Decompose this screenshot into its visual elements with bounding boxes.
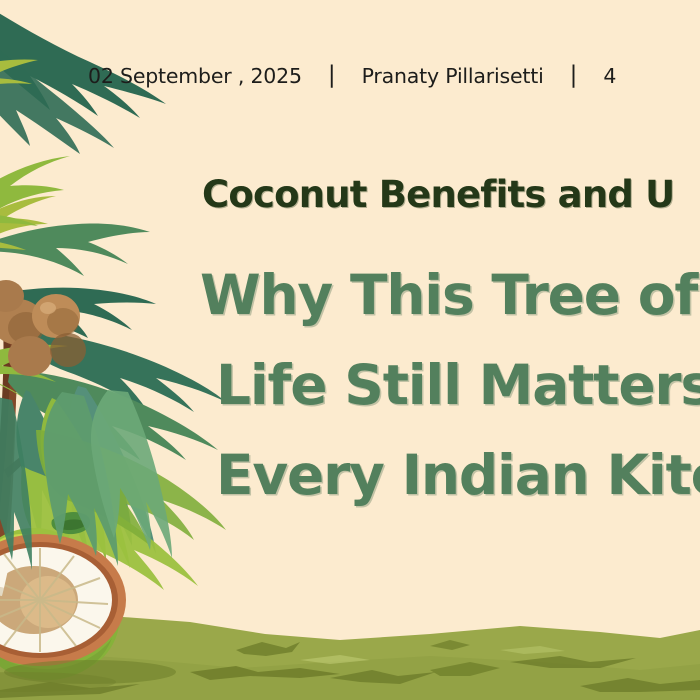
green-coconut-speck-1 bbox=[5, 556, 15, 564]
halved-coconut-chip bbox=[0, 568, 8, 588]
frond-light-upper bbox=[0, 156, 70, 226]
frond-mid-down-left bbox=[16, 390, 90, 564]
halved-coconut-flesh-tan bbox=[0, 566, 78, 634]
palm-fronds-light bbox=[0, 59, 226, 590]
halved-coconut-husk bbox=[0, 544, 120, 676]
whole-green-coconut-illustration bbox=[0, 512, 92, 660]
grass-tuft-6 bbox=[580, 678, 700, 692]
green-coconut-ground-shadow bbox=[0, 672, 116, 692]
frond-droop-2 bbox=[91, 390, 172, 558]
tree-coconut-2-shade bbox=[47, 308, 79, 336]
article-kicker: Coconut Benefits and U bbox=[202, 176, 674, 213]
tree-coconut-highlight bbox=[40, 302, 56, 314]
halved-coconut-illustration bbox=[0, 534, 176, 692]
green-coconut-dark-edge bbox=[0, 599, 30, 661]
meta-separator-1: | bbox=[302, 64, 362, 87]
tree-coconut-3 bbox=[8, 336, 52, 376]
read-time: 4 bbox=[603, 66, 616, 87]
halved-coconut-base-green bbox=[0, 638, 112, 680]
grass-tuft-3 bbox=[330, 670, 436, 684]
trunk-shade bbox=[0, 312, 17, 640]
grass-tuft-7 bbox=[430, 640, 470, 650]
frond-droop-3 bbox=[0, 396, 32, 570]
headline-line-2: Life Still Matters in bbox=[200, 340, 700, 430]
ground-hill-shade bbox=[0, 654, 700, 700]
frond-mid-right bbox=[8, 370, 218, 460]
frond-droop-1 bbox=[44, 392, 118, 566]
green-coconut-stem bbox=[51, 512, 90, 534]
trunk-stem-sliver bbox=[4, 444, 38, 478]
frond-light-down bbox=[41, 398, 130, 568]
palm-fronds-mid bbox=[0, 223, 218, 564]
grass-tuft-5 bbox=[510, 656, 636, 668]
halved-coconut-flesh-tan-light bbox=[20, 576, 76, 628]
frond-mid-left bbox=[0, 223, 150, 276]
tree-coconut-5 bbox=[0, 280, 24, 312]
grass-tuft-8 bbox=[0, 682, 140, 698]
author-name: Pranaty Pillarisetti bbox=[362, 66, 544, 87]
article-headline: Why This Tree of Life Still Matters in E… bbox=[200, 250, 700, 520]
frond-right-dark bbox=[14, 330, 226, 412]
frond-light-left-mid bbox=[0, 345, 68, 398]
frond-mid-down-right bbox=[68, 386, 156, 554]
trunk-body bbox=[0, 312, 17, 640]
green-coconut-speck-2 bbox=[26, 549, 34, 555]
grass-highlight-2 bbox=[500, 646, 565, 654]
publish-date: 02 September , 2025 bbox=[88, 66, 302, 87]
headline-line-3: Every Indian Kitch bbox=[200, 430, 700, 520]
grass-tuft-2 bbox=[236, 642, 300, 656]
green-coconut-light bbox=[0, 534, 64, 596]
green-coconut-body bbox=[0, 528, 92, 660]
article-meta-row: 02 September , 2025 | Pranaty Pillariset… bbox=[0, 58, 700, 94]
palm-fronds-drooping bbox=[0, 390, 172, 570]
grass-highlight-1 bbox=[300, 655, 370, 664]
palm-trunk bbox=[0, 312, 38, 640]
green-coconut-speck-4 bbox=[19, 573, 25, 579]
tree-coconut-1-shade bbox=[8, 312, 44, 344]
frond-olive-top bbox=[0, 196, 56, 250]
grass-ground-illustration bbox=[0, 616, 700, 700]
halved-coconut-flesh-white bbox=[0, 547, 112, 653]
frond-left-dark bbox=[0, 288, 156, 338]
frond-light-right-low bbox=[21, 466, 198, 590]
halved-coconut-fibers bbox=[0, 548, 108, 652]
ground-hill-light bbox=[0, 616, 700, 700]
green-coconut-stem-dark bbox=[57, 519, 85, 530]
article-header-banner: 02 September , 2025 | Pranaty Pillariset… bbox=[0, 0, 700, 700]
halved-coconut-chip-shadow bbox=[0, 585, 4, 598]
grass-tuft-1 bbox=[190, 666, 340, 680]
halved-coconut-ground-shadow bbox=[4, 660, 176, 684]
tree-coconut-2 bbox=[32, 294, 80, 338]
tree-coconut-cluster bbox=[0, 280, 86, 376]
headline-line-1: Why This Tree of bbox=[200, 250, 700, 340]
tree-coconut-1 bbox=[0, 299, 44, 345]
meta-separator-2: | bbox=[544, 64, 604, 87]
halved-coconut-shell-rim bbox=[0, 534, 126, 666]
frond-light-right-mid bbox=[36, 430, 226, 544]
tree-coconut-4 bbox=[50, 333, 86, 367]
grass-tuft-4 bbox=[430, 662, 500, 676]
halved-coconut-shell-inner bbox=[0, 542, 118, 658]
